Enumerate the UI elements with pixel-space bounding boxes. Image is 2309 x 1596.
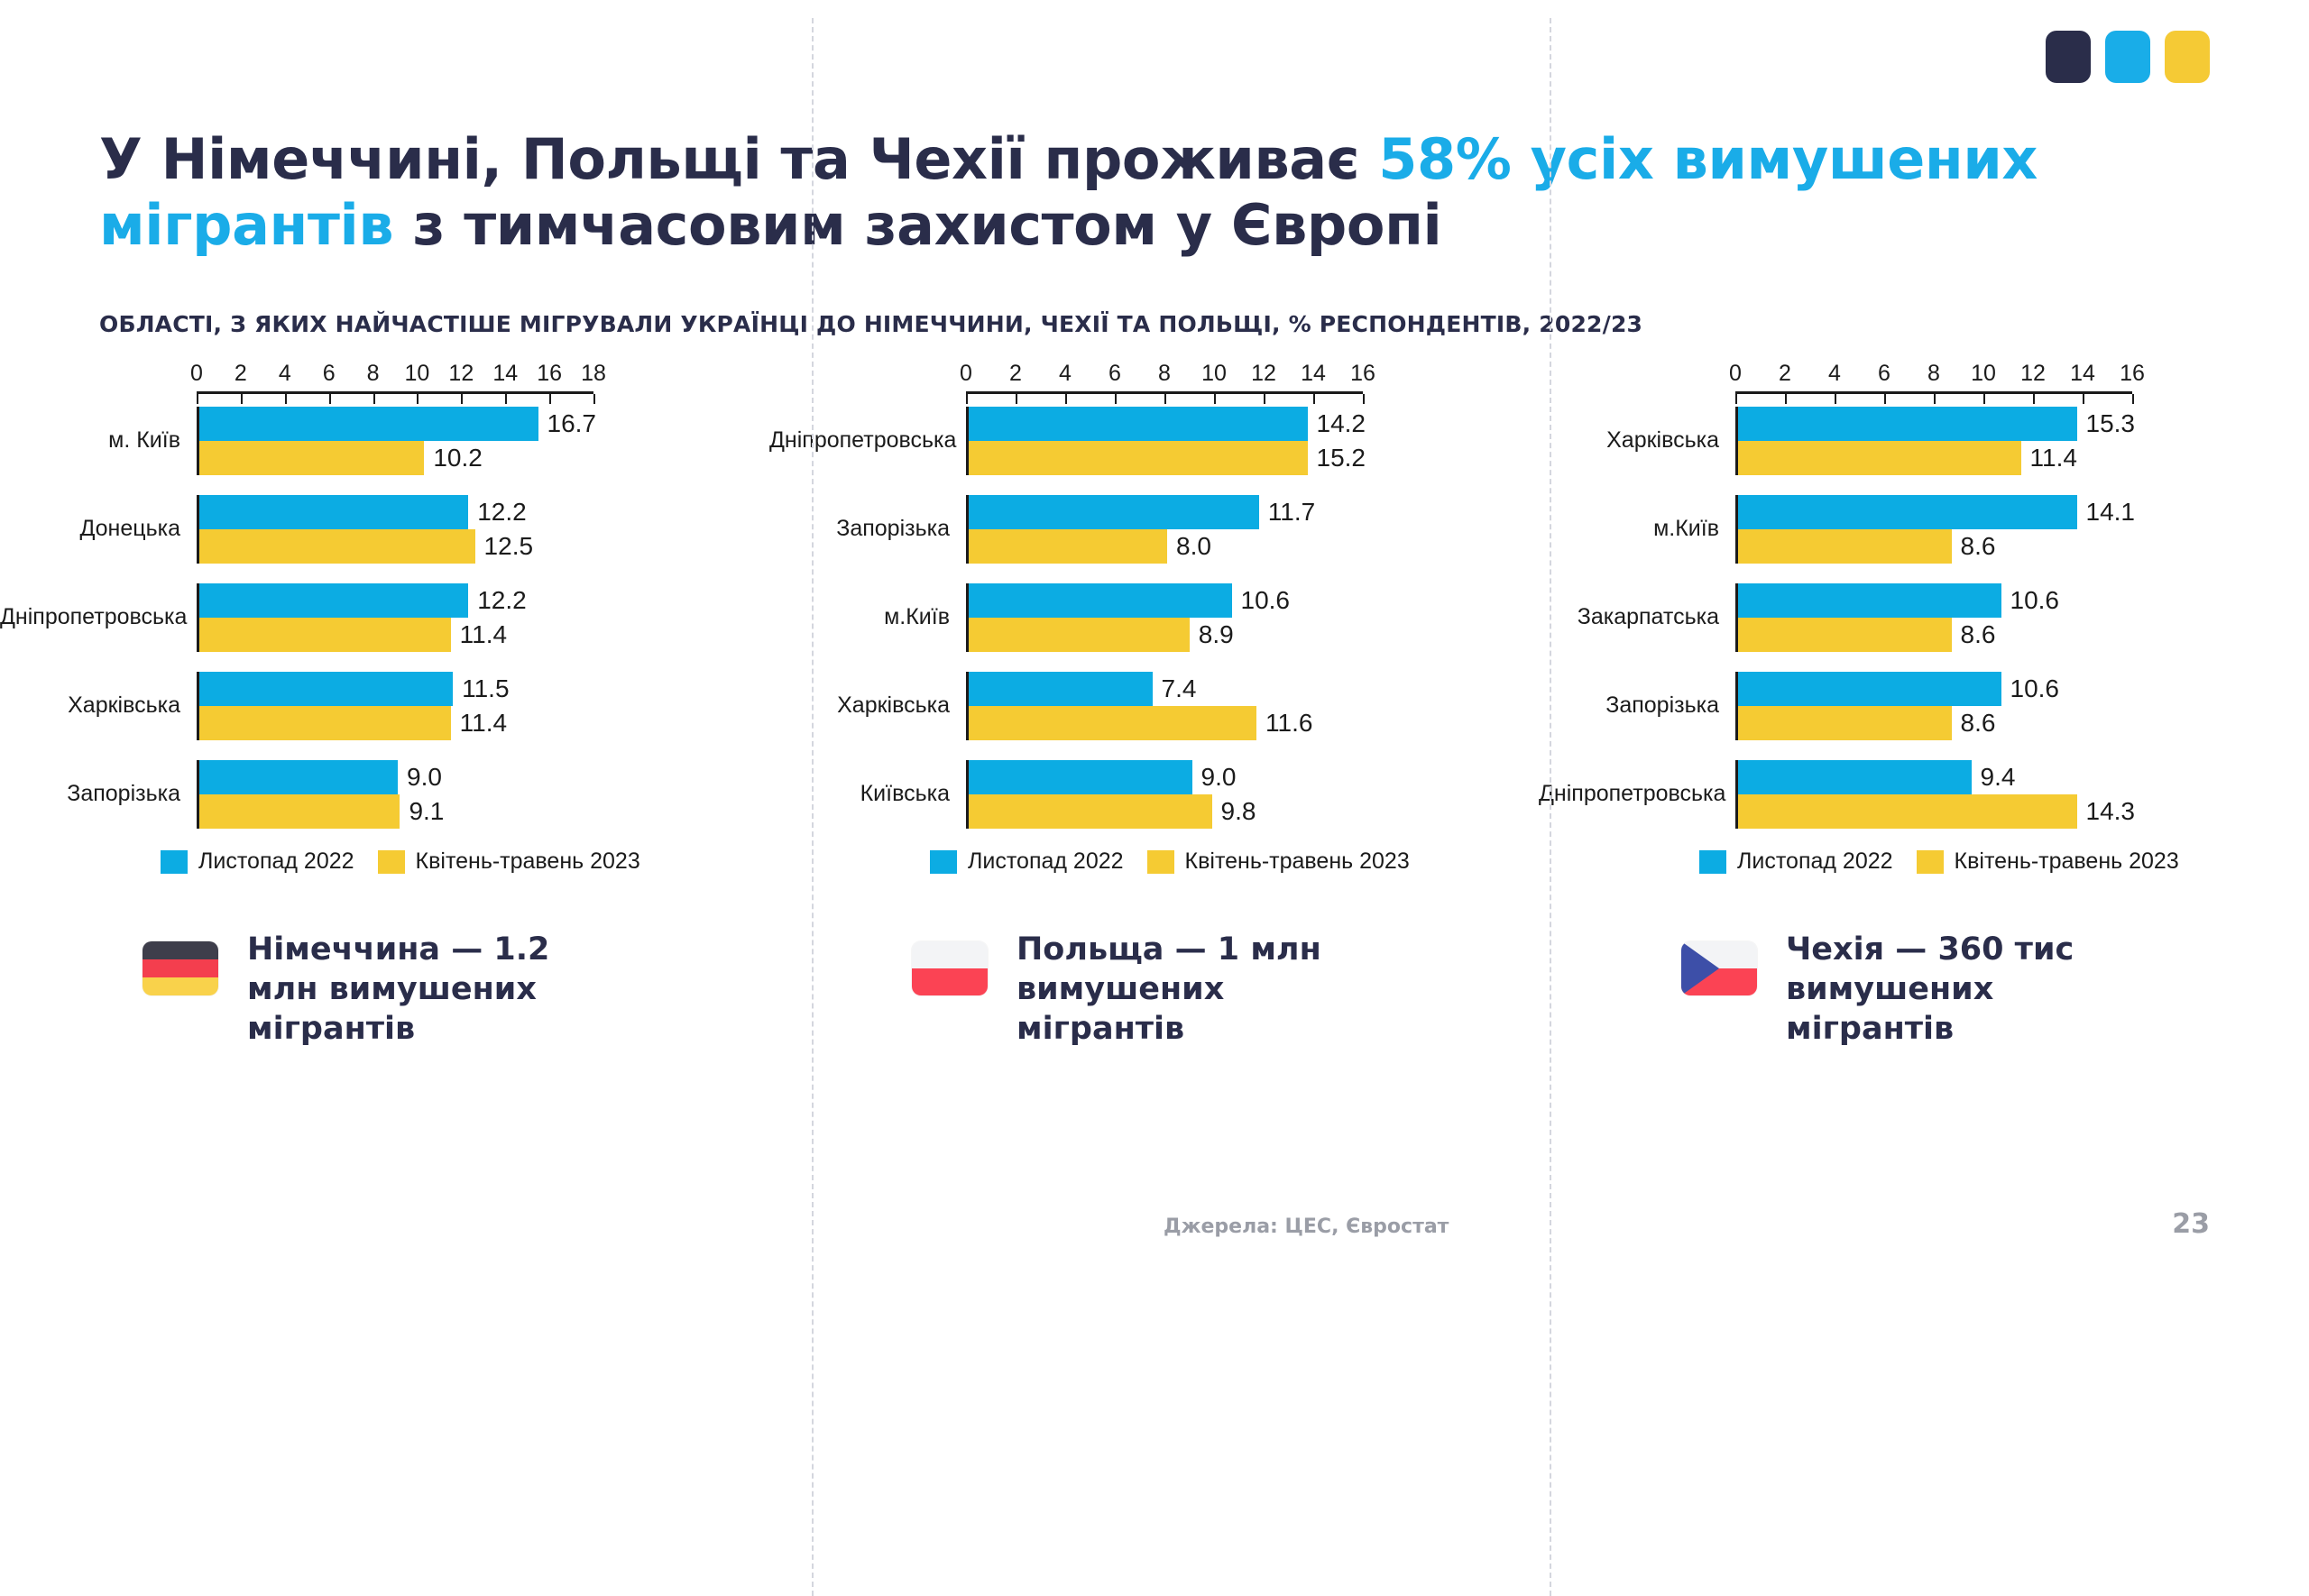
x-tick-label: 12 — [448, 361, 474, 387]
bar-series1 — [199, 583, 468, 618]
bar-row: 8.6 — [1738, 706, 2135, 740]
category-bars: 11.511.4 — [197, 672, 596, 740]
bar-series2 — [969, 794, 1212, 829]
category-bars: 16.710.2 — [197, 407, 596, 475]
czechia-flag — [1681, 941, 1757, 995]
bar-value-label: 16.7 — [547, 409, 597, 438]
category-bars: 7.411.6 — [966, 672, 1366, 740]
chart-category-row: Дніпропетровська12.211.4 — [0, 583, 769, 652]
x-tick-label: 4 — [1059, 361, 1072, 387]
bar-series2 — [199, 618, 451, 652]
x-tick-label: 12 — [2020, 361, 2046, 387]
page-number: 23 — [2172, 1208, 2210, 1240]
x-tick-label: 14 — [492, 361, 518, 387]
germany-flag — [143, 941, 218, 995]
bar-series1 — [969, 495, 1259, 529]
bar-series1 — [199, 407, 538, 441]
card-poland: Польща — 1 млн вимушених мігрантів — [769, 931, 1539, 1049]
chart-czechia: 0246810121416Харківська15.311.4м.Київ14.… — [1539, 361, 2308, 875]
bar-series2 — [1738, 529, 1952, 564]
x-tick-label: 0 — [1729, 361, 1742, 387]
x-axis-tick — [1214, 394, 1216, 404]
legend-label: Квітень-травень 2023 — [416, 848, 640, 875]
category-bars: 15.311.4 — [1735, 407, 2135, 475]
category-bars: 11.78.0 — [966, 495, 1366, 564]
bar-value-label: 12.5 — [484, 532, 534, 561]
x-tick-label: 18 — [581, 361, 606, 387]
x-tick-label: 0 — [190, 361, 203, 387]
x-axis-tick — [2083, 394, 2084, 404]
category-bars: 14.215.2 — [966, 407, 1366, 475]
x-axis-tick — [1313, 394, 1315, 404]
legend-swatch — [378, 850, 405, 874]
x-axis-tick — [1934, 394, 1936, 404]
bar-value-label: 15.2 — [1317, 444, 1366, 472]
flag-stripe — [143, 977, 218, 995]
bar-value-label: 8.6 — [1961, 620, 1996, 649]
chart-category-row: Харківська15.311.4 — [1539, 407, 2308, 475]
bar-value-label: 7.4 — [1162, 674, 1197, 703]
bar-value-label: 15.3 — [2086, 409, 2136, 438]
category-label: Закарпатська — [1539, 605, 1735, 630]
chart-category-row: Дніпропетровська14.215.2 — [769, 407, 1539, 475]
x-axis-tick — [2132, 394, 2134, 404]
x-axis-tick — [417, 394, 419, 404]
bar-row: 7.4 — [969, 672, 1366, 706]
chart-category-row: Закарпатська10.68.6 — [1539, 583, 2308, 652]
x-axis-tick — [1363, 394, 1365, 404]
bar-series1 — [1738, 407, 2077, 441]
logo-square-cyan — [2105, 31, 2150, 83]
category-bars: 14.18.6 — [1735, 495, 2135, 564]
bar-value-label: 11.4 — [2030, 444, 2077, 472]
category-label: м. Київ — [0, 428, 197, 454]
legend-item[interactable]: Квітень-травень 2023 — [1147, 848, 1410, 875]
czechia-flag-svg — [1681, 941, 1757, 995]
x-tick-label: 10 — [1971, 361, 1996, 387]
chart-category-row: Дніпропетровська9.414.3 — [1539, 760, 2308, 829]
bar-row: 12.2 — [199, 495, 596, 529]
bar-row: 8.6 — [1738, 529, 2135, 564]
card-germany: Німеччина — 1.2 млн вимушених мігрантів — [0, 931, 769, 1049]
chart-category-row: Запорізька9.09.1 — [0, 760, 769, 829]
bar-value-label: 14.2 — [1317, 409, 1366, 438]
flag-stripe — [143, 941, 218, 959]
bar-series1 — [969, 583, 1232, 618]
bar-value-label: 11.4 — [460, 709, 507, 738]
category-label: м.Київ — [1539, 517, 1735, 542]
chart-subtitle: ОБЛАСТІ, З ЯКИХ НАЙЧАСТІШЕ МІГРУВАЛИ УКР… — [99, 311, 1642, 337]
bar-value-label: 11.6 — [1265, 709, 1312, 738]
category-label: Запорізька — [0, 782, 197, 807]
bar-value-label: 12.2 — [477, 586, 527, 615]
card-czechia-text: Чехія — 360 тис вимушених мігрантів — [1786, 931, 2129, 1049]
chart-poland: 0246810121416Дніпропетровська14.215.2Зап… — [769, 361, 1539, 875]
legend-swatch — [161, 850, 188, 874]
x-axis-tick — [373, 394, 375, 404]
chart-poland-legend: Листопад 2022Квітень-травень 2023 — [930, 848, 1539, 875]
bar-series1 — [1738, 583, 2001, 618]
bar-row: 10.6 — [969, 583, 1366, 618]
page-title-wrapper: У Німеччині, Польщі та Чехії проживає 58… — [99, 126, 2201, 258]
category-label: Донецька — [0, 517, 197, 542]
bar-row: 12.2 — [199, 583, 596, 618]
bar-series2 — [969, 529, 1167, 564]
x-axis-tick — [241, 394, 243, 404]
legend-label: Листопад 2022 — [198, 848, 354, 875]
bar-row: 12.5 — [199, 529, 596, 564]
legend-label: Листопад 2022 — [968, 848, 1124, 875]
x-axis-tick — [285, 394, 287, 404]
bar-series2 — [1738, 794, 2077, 829]
bar-series2 — [1738, 706, 1952, 740]
logo-square-yellow — [2165, 31, 2210, 83]
legend-swatch — [1917, 850, 1944, 874]
x-axis-tick — [593, 394, 595, 404]
bar-value-label: 9.0 — [1201, 763, 1237, 792]
x-axis-tick — [329, 394, 331, 404]
bar-row: 14.3 — [1738, 794, 2135, 829]
bar-row: 11.4 — [199, 706, 596, 740]
bar-series2 — [969, 706, 1256, 740]
x-axis-tick — [1115, 394, 1117, 404]
bar-row: 14.1 — [1738, 495, 2135, 529]
x-tick-label: 14 — [1301, 361, 1326, 387]
bar-row: 11.4 — [199, 618, 596, 652]
x-tick-label: 10 — [1201, 361, 1227, 387]
x-axis-tick — [966, 394, 968, 404]
chart-czechia-x-axis-labels: 0246810121416 — [1735, 361, 2202, 391]
category-label: Київська — [769, 782, 966, 807]
x-axis-tick — [549, 394, 551, 404]
bar-series2 — [969, 441, 1308, 475]
bar-row: 8.9 — [969, 618, 1366, 652]
chart-category-row: Харківська11.511.4 — [0, 672, 769, 740]
bar-row: 16.7 — [199, 407, 596, 441]
chart-germany-x-axis-labels: 024681012141618 — [197, 361, 663, 391]
bar-row: 10.6 — [1738, 583, 2135, 618]
bar-row: 9.4 — [1738, 760, 2135, 794]
bar-value-label: 14.1 — [2086, 498, 2136, 527]
x-tick-label: 4 — [1828, 361, 1841, 387]
bar-value-label: 10.6 — [1241, 586, 1291, 615]
panel-divider-2 — [1550, 18, 1551, 1596]
chart-category-row: м.Київ14.18.6 — [1539, 495, 2308, 564]
category-label: Дніпропетровська — [1539, 782, 1735, 807]
x-axis-tick — [1983, 394, 1985, 404]
bar-row: 11.4 — [1738, 441, 2135, 475]
category-label: Харківська — [769, 693, 966, 719]
category-label: Харківська — [0, 693, 197, 719]
poland-flag — [912, 941, 988, 995]
bar-row: 9.8 — [969, 794, 1366, 829]
chart-poland-plot-area: Дніпропетровська14.215.2Запорізька11.78.… — [769, 407, 1539, 829]
chart-category-row: Харківська7.411.6 — [769, 672, 1539, 740]
bar-value-label: 10.6 — [2010, 586, 2060, 615]
charts-container: 024681012141618м. Київ16.710.2Донецька12… — [0, 361, 2309, 1049]
category-bars: 9.414.3 — [1735, 760, 2135, 829]
x-axis-tick — [1735, 394, 1737, 404]
bar-row: 11.7 — [969, 495, 1366, 529]
bar-series2 — [1738, 618, 1952, 652]
category-label: м.Київ — [769, 605, 966, 630]
x-axis-tick — [1835, 394, 1836, 404]
bar-row: 15.3 — [1738, 407, 2135, 441]
bar-row: 9.0 — [199, 760, 596, 794]
card-germany-text: Німеччина — 1.2 млн вимушених мігрантів — [247, 931, 590, 1049]
chart-poland-x-axis-line — [966, 391, 1363, 407]
x-tick-label: 4 — [279, 361, 291, 387]
x-axis-tick — [1785, 394, 1787, 404]
bar-row: 15.2 — [969, 441, 1366, 475]
legend-label: Квітень-травень 2023 — [1955, 848, 2179, 875]
category-bars: 10.68.6 — [1735, 583, 2135, 652]
x-tick-label: 6 — [1878, 361, 1890, 387]
bar-series1 — [969, 672, 1153, 706]
x-tick-label: 16 — [537, 361, 562, 387]
x-tick-label: 2 — [1009, 361, 1022, 387]
bar-series1 — [199, 495, 468, 529]
bar-row: 11.5 — [199, 672, 596, 706]
legend-swatch — [1699, 850, 1726, 874]
x-tick-label: 12 — [1251, 361, 1276, 387]
category-label: Запорізька — [1539, 693, 1735, 719]
x-tick-label: 16 — [2120, 361, 2145, 387]
x-tick-label: 10 — [405, 361, 430, 387]
legend-label: Листопад 2022 — [1737, 848, 1893, 875]
x-axis-tick — [2033, 394, 2035, 404]
x-tick-label: 16 — [1350, 361, 1375, 387]
logo-square-navy — [2046, 31, 2091, 83]
bar-series2 — [1738, 441, 2021, 475]
bar-row: 10.2 — [199, 441, 596, 475]
bar-row: 9.1 — [199, 794, 596, 829]
chart-category-row: Донецька12.212.5 — [0, 495, 769, 564]
chart-czechia-legend: Листопад 2022Квітень-травень 2023 — [1699, 848, 2308, 875]
bar-series2 — [199, 794, 400, 829]
category-bars: 9.09.1 — [197, 760, 596, 829]
bar-value-label: 12.2 — [477, 498, 527, 527]
bar-row: 11.6 — [969, 706, 1366, 740]
category-bars: 9.09.8 — [966, 760, 1366, 829]
legend-swatch — [930, 850, 957, 874]
bar-row: 9.0 — [969, 760, 1366, 794]
x-axis-tick — [461, 394, 463, 404]
x-axis-tick — [1264, 394, 1265, 404]
flag-stripe — [912, 968, 988, 995]
category-bars: 10.68.6 — [1735, 672, 2135, 740]
legend-item[interactable]: Квітень-травень 2023 — [1917, 848, 2179, 875]
chart-czechia-x-axis-line — [1735, 391, 2132, 407]
bar-series1 — [1738, 495, 2077, 529]
bar-value-label: 9.8 — [1221, 797, 1256, 826]
chart-category-row: м.Київ10.68.9 — [769, 583, 1539, 652]
chart-poland-x-axis-labels: 0246810121416 — [966, 361, 1432, 391]
legend-swatch — [1147, 850, 1174, 874]
bar-series1 — [969, 760, 1192, 794]
x-axis-tick — [1016, 394, 1017, 404]
bar-series1 — [969, 407, 1308, 441]
chart-germany-legend: Листопад 2022Квітень-травень 2023 — [161, 848, 769, 875]
x-tick-label: 0 — [960, 361, 972, 387]
bar-value-label: 11.5 — [462, 674, 509, 703]
bar-value-label: 10.6 — [2010, 674, 2060, 703]
bar-row: 8.0 — [969, 529, 1366, 564]
flag-stripe — [143, 959, 218, 977]
panel-divider-1 — [812, 18, 814, 1596]
bar-series1 — [1738, 760, 1972, 794]
bar-value-label: 9.4 — [1981, 763, 2016, 792]
bar-row: 10.6 — [1738, 672, 2135, 706]
x-tick-label: 8 — [1927, 361, 1940, 387]
category-label: Запорізька — [769, 517, 966, 542]
x-tick-label: 14 — [2070, 361, 2095, 387]
x-tick-label: 2 — [1779, 361, 1791, 387]
legend-item[interactable]: Листопад 2022 — [930, 848, 1124, 875]
chart-czechia-panel: 0246810121416Харківська15.311.4м.Київ14.… — [1539, 361, 2308, 1049]
category-label: Дніпропетровська — [769, 428, 966, 454]
card-czechia: Чехія — 360 тис вимушених мігрантів — [1539, 931, 2308, 1049]
category-bars: 12.212.5 — [197, 495, 596, 564]
flag-stripe — [912, 941, 988, 968]
x-tick-label: 8 — [367, 361, 380, 387]
chart-germany-panel: 024681012141618м. Київ16.710.2Донецька12… — [0, 361, 769, 1049]
x-axis-tick — [1884, 394, 1886, 404]
x-axis-tick — [197, 394, 198, 404]
category-bars: 10.68.9 — [966, 583, 1366, 652]
title-segment: У Німеччині, Польщі та Чехії проживає — [99, 126, 1378, 192]
category-label: Харківська — [1539, 428, 1735, 454]
x-tick-label: 6 — [323, 361, 336, 387]
legend-item[interactable]: Листопад 2022 — [161, 848, 354, 875]
title-segment: з тимчасовим захистом у Європі — [393, 192, 1441, 258]
chart-germany-plot-area: м. Київ16.710.2Донецька12.212.5Дніпропет… — [0, 407, 769, 829]
bar-row: 8.6 — [1738, 618, 2135, 652]
chart-category-row: Київська9.09.8 — [769, 760, 1539, 829]
source-note: Джерела: ЦЕС, Євростат — [1164, 1215, 1449, 1238]
x-axis-tick — [1065, 394, 1067, 404]
x-tick-label: 6 — [1109, 361, 1121, 387]
bar-series1 — [199, 672, 453, 706]
legend-item[interactable]: Квітень-травень 2023 — [378, 848, 640, 875]
bar-series1 — [1738, 672, 2001, 706]
bar-series1 — [199, 760, 398, 794]
bar-value-label: 9.1 — [409, 797, 444, 826]
x-tick-label: 2 — [235, 361, 247, 387]
chart-germany: 024681012141618м. Київ16.710.2Донецька12… — [0, 361, 769, 875]
bar-value-label: 8.9 — [1199, 620, 1234, 649]
legend-label: Квітень-травень 2023 — [1185, 848, 1410, 875]
legend-item[interactable]: Листопад 2022 — [1699, 848, 1893, 875]
chart-czechia-plot-area: Харківська15.311.4м.Київ14.18.6Закарпатс… — [1539, 407, 2308, 829]
chart-category-row: Запорізька11.78.0 — [769, 495, 1539, 564]
chart-category-row: Запорізька10.68.6 — [1539, 672, 2308, 740]
x-axis-tick — [505, 394, 507, 404]
page-title: У Німеччині, Польщі та Чехії проживає 58… — [99, 126, 2201, 258]
bar-series2 — [199, 706, 451, 740]
chart-category-row: м. Київ16.710.2 — [0, 407, 769, 475]
chart-poland-panel: 0246810121416Дніпропетровська14.215.2Зап… — [769, 361, 1539, 1049]
bar-value-label: 11.7 — [1268, 498, 1315, 527]
bar-value-label: 8.6 — [1961, 709, 1996, 738]
card-poland-text: Польща — 1 млн вимушених мігрантів — [1017, 931, 1359, 1049]
bar-series2 — [199, 441, 424, 475]
x-axis-tick — [1164, 394, 1166, 404]
bar-value-label: 14.3 — [2086, 797, 2136, 826]
bar-value-label: 11.4 — [460, 620, 507, 649]
bar-value-label: 8.0 — [1176, 532, 1211, 561]
bar-series2 — [969, 618, 1190, 652]
category-bars: 12.211.4 — [197, 583, 596, 652]
bar-row: 14.2 — [969, 407, 1366, 441]
bar-series2 — [199, 529, 475, 564]
brand-logo — [2046, 31, 2210, 83]
chart-germany-x-axis-line — [197, 391, 593, 407]
bar-value-label: 9.0 — [407, 763, 442, 792]
bar-value-label: 10.2 — [433, 444, 483, 472]
bar-value-label: 8.6 — [1961, 532, 1996, 561]
x-tick-label: 8 — [1158, 361, 1171, 387]
category-label: Дніпропетровська — [0, 605, 197, 630]
